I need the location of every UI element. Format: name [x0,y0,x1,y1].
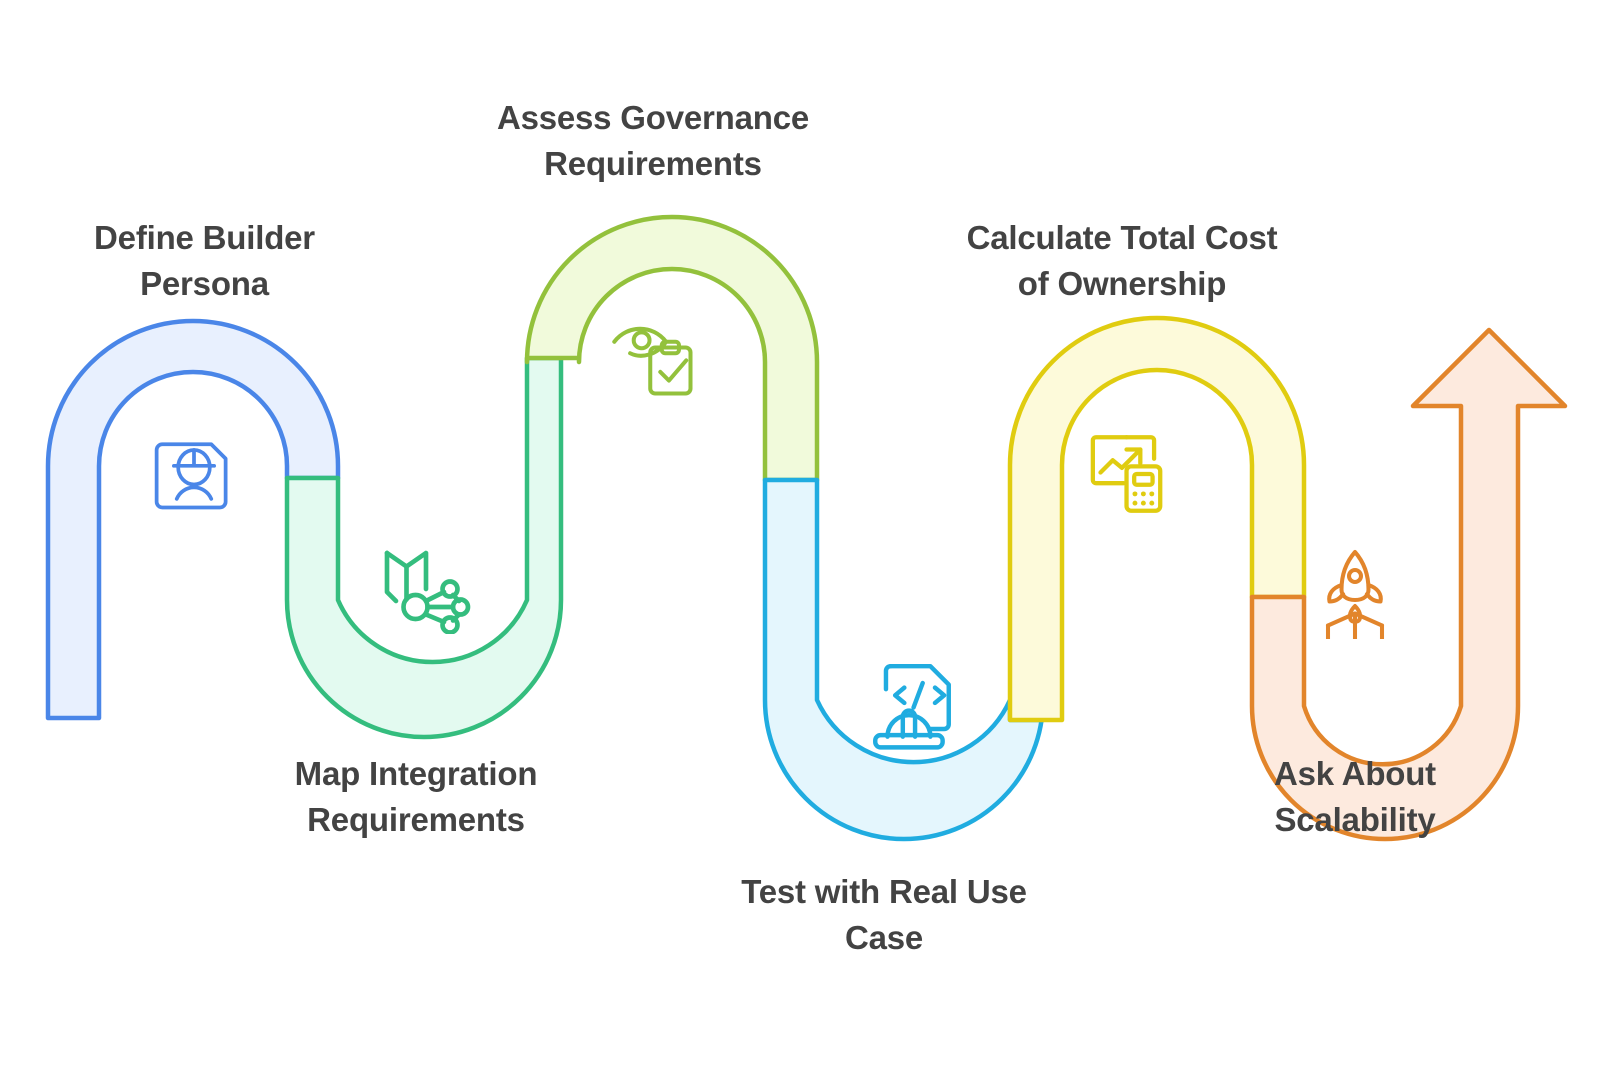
step-label-assess-governance-requirements: Assess Governance Requirements [444,95,862,186]
diagram-canvas: Define Builder Persona Map Integration R… [0,0,1608,1080]
step-label-map-integration-requirements: Map Integration Requirements [252,751,580,842]
step-label-test-with-real-use-case: Test with Real Use Case [698,869,1070,960]
step-label-define-builder-persona: Define Builder Persona [47,215,362,306]
step-label-calculate-total-cost-of-ownership: Calculate Total Cost of Ownership [925,215,1319,306]
code-file-hardhat-icon [863,657,961,755]
map-network-nodes-icon [375,538,471,634]
id-card-person-helmet-icon [148,427,240,519]
eye-clipboard-check-icon [610,313,702,405]
growth-chart-calculator-icon [1076,425,1174,523]
step-label-ask-about-scalability: Ask About Scalability [1228,751,1482,842]
rocket-launch-platform-icon [1307,543,1403,639]
